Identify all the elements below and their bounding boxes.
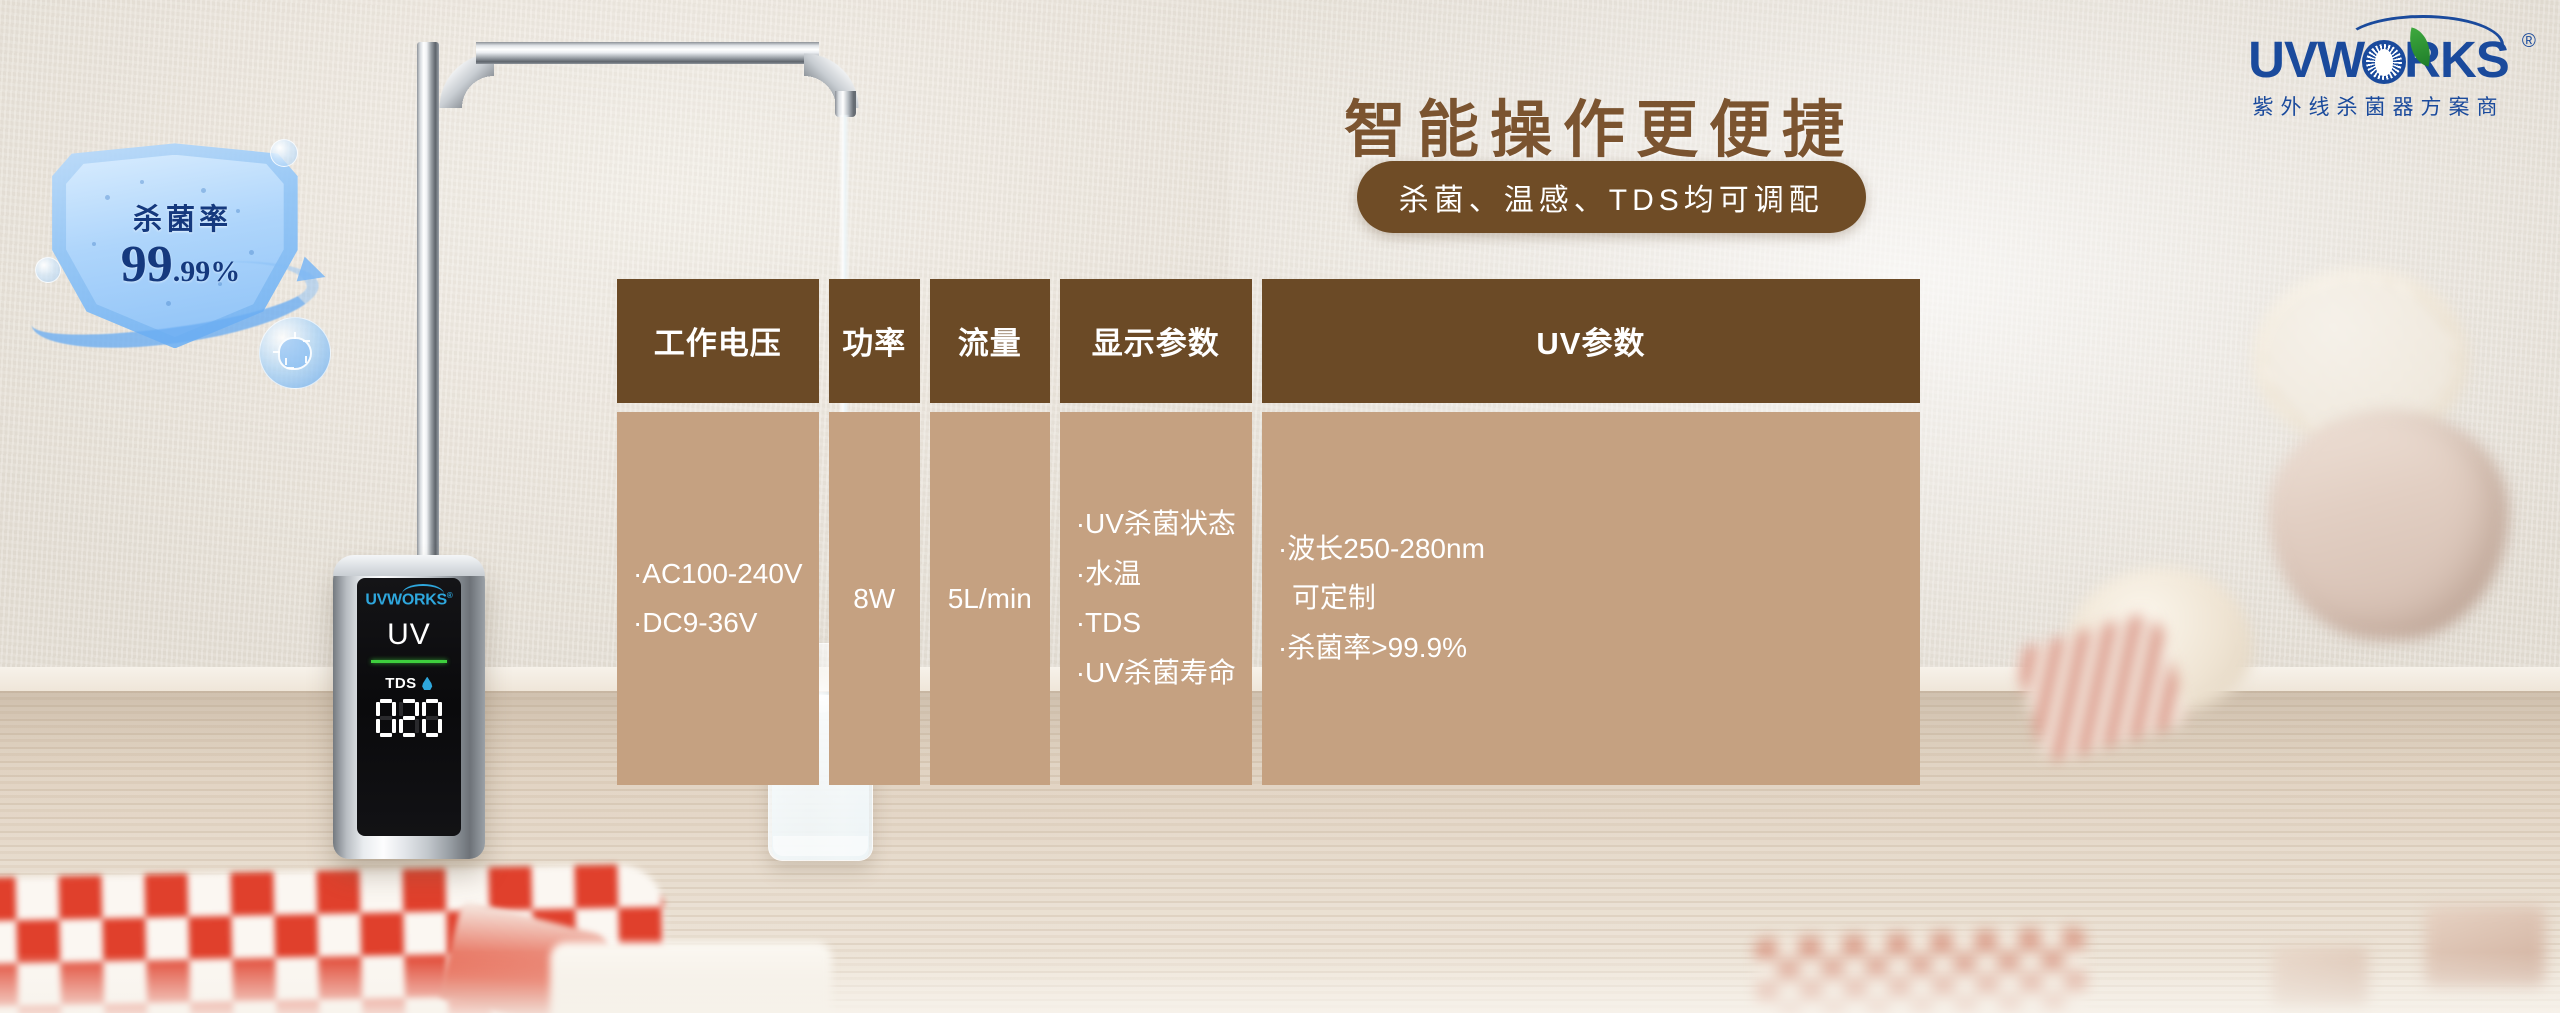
badge-value-major: 99	[121, 239, 173, 291]
specification-table: 工作电压 ·AC100-240V ·DC9-36V 功率 8W 流量 5L/mi…	[617, 279, 1920, 786]
device-logo-registered: ®	[447, 591, 453, 600]
badge-label: 杀菌率	[133, 196, 232, 238]
badge-value-minor: .99%	[173, 257, 241, 287]
spec-line: ·波长250-280nm	[1278, 524, 1904, 574]
seven-segment-digit	[422, 699, 442, 737]
logo-tagline: 紫外线杀菌器方案商	[2248, 91, 2509, 121]
spec-line: 可定制	[1278, 573, 1904, 623]
spec-column-uv: UV参数 ·波长250-280nm 可定制 ·杀菌率>99.9%	[1262, 279, 1920, 786]
spec-line: 8W	[853, 582, 895, 616]
bacteria-icon	[278, 337, 312, 371]
device-status-bar	[371, 660, 448, 663]
device-brand-logo: UVWORKS®	[365, 592, 452, 608]
spec-header: 流量	[930, 279, 1050, 403]
glass-base	[773, 836, 868, 855]
spec-column-display: 显示参数 ·UV杀菌状态 ·水温 ·TDS ·UV杀菌寿命	[1060, 279, 1252, 786]
seven-segment-digit	[376, 699, 396, 737]
spec-body: ·波长250-280nm 可定制 ·杀菌率>99.9%	[1262, 412, 1920, 785]
uv-sterilizer-device[interactable]: UVWORKS® UV TDS	[333, 555, 485, 859]
device-tds-label: TDS	[385, 675, 417, 692]
spec-line: ·DC9-36V	[633, 598, 803, 648]
spec-header: 显示参数	[1060, 279, 1252, 403]
device-logo-arc-icon	[402, 584, 444, 594]
badge-value: 99 .99%	[121, 239, 241, 291]
spec-line: ·杀菌率>99.9%	[1278, 623, 1904, 673]
page-title: 智能操作更便捷	[1344, 79, 1855, 169]
device-top-cap	[333, 555, 485, 576]
registered-trademark-icon: ®	[2522, 32, 2535, 51]
spec-body: 8W	[829, 412, 920, 785]
spec-column-power: 功率 8W	[829, 279, 920, 786]
spec-body: 5L/min	[930, 412, 1050, 785]
bubble-icon	[270, 139, 298, 167]
spec-line: ·水温	[1076, 549, 1236, 599]
spec-line: ·UV杀菌寿命	[1076, 648, 1236, 698]
uv-sunburst-icon	[2362, 40, 2406, 84]
subtitle-pill: 杀菌、温感、TDS均可调配	[1357, 161, 1866, 233]
spec-header: 工作电压	[617, 279, 819, 403]
device-tds-row: TDS	[385, 675, 433, 692]
spec-line: ·AC100-240V	[633, 549, 803, 599]
spec-body: ·AC100-240V ·DC9-36V	[617, 412, 819, 785]
spec-body: ·UV杀菌状态 ·水温 ·TDS ·UV杀菌寿命	[1060, 412, 1252, 785]
seven-segment-digit	[399, 699, 419, 737]
spec-column-voltage: 工作电压 ·AC100-240V ·DC9-36V	[617, 279, 819, 786]
device-mode-label: UV	[387, 620, 431, 650]
faucet-vertical-pipe	[417, 42, 439, 569]
spec-line: 5L/min	[948, 582, 1032, 616]
device-display-screen[interactable]: UVWORKS® UV TDS	[357, 578, 461, 836]
logo-wordmark: UVW RKS ®	[2248, 34, 2509, 85]
spec-column-flow: 流量 5L/min	[930, 279, 1050, 786]
faucet-horizontal-pipe	[476, 42, 819, 65]
spec-header: UV参数	[1262, 279, 1920, 403]
spec-header: 功率	[829, 279, 920, 403]
spec-line: ·TDS	[1076, 598, 1236, 648]
faucet-spout	[835, 91, 855, 117]
sterilization-rate-badge: 杀菌率 99 .99%	[41, 130, 320, 358]
water-drop-icon	[422, 677, 433, 691]
spec-line: ·UV杀菌状态	[1076, 499, 1236, 549]
uvworks-logo: UVW RKS ® 紫外线杀菌器方案商	[2248, 34, 2509, 121]
device-tds-value	[376, 699, 442, 737]
